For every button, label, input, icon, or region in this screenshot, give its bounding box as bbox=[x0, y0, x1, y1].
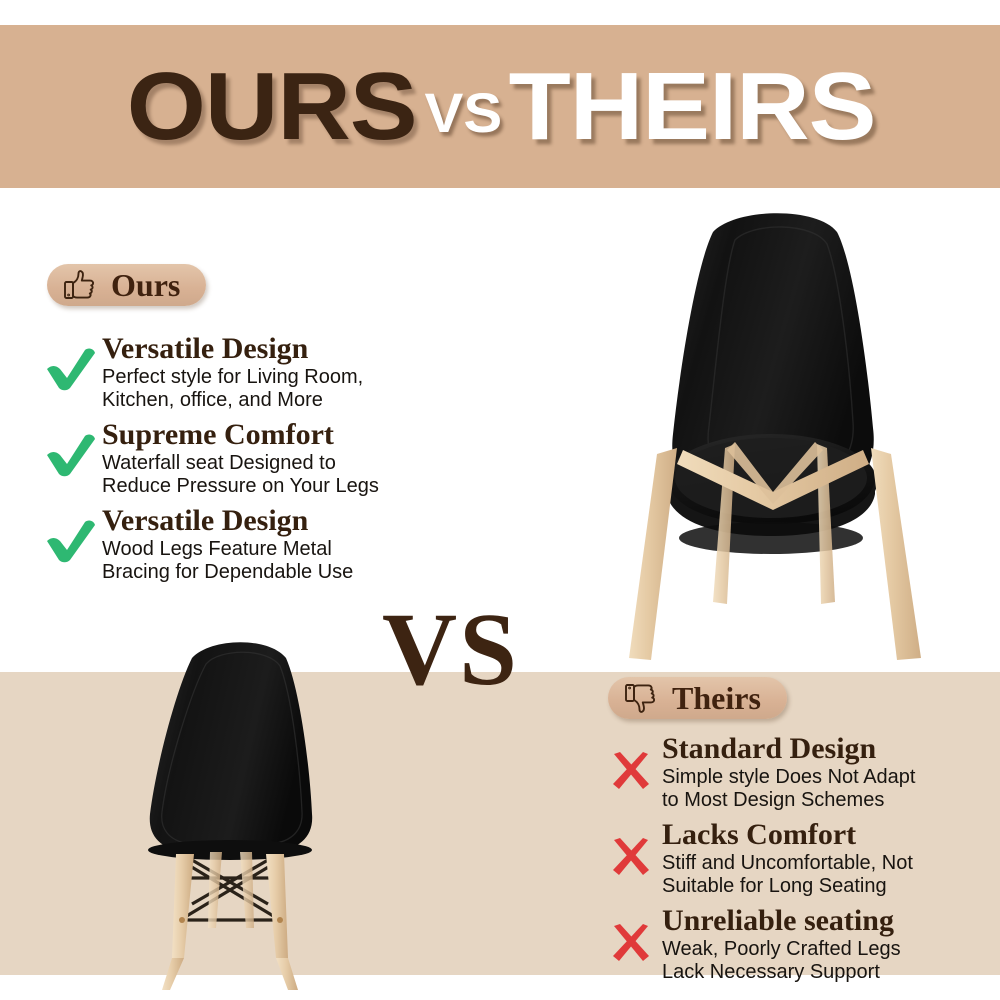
header-title: OURS VS THEIRS bbox=[0, 25, 1000, 188]
ours-feature-item: Versatile Design Wood Legs Feature Metal… bbox=[40, 505, 460, 585]
chair-leg-back-left bbox=[208, 852, 222, 928]
ours-feature-title: Supreme Comfort bbox=[102, 419, 460, 451]
ours-feature-item: Supreme Comfort Waterfall seat Designed … bbox=[40, 419, 460, 499]
ours-feature-list: Versatile Design Perfect style for Livin… bbox=[40, 333, 460, 591]
theirs-feature-title: Lacks Comfort bbox=[662, 819, 1000, 851]
cross-icon bbox=[600, 819, 662, 877]
ours-feature-desc: Perfect style for Living Room, Kitchen, … bbox=[102, 366, 460, 413]
chair-leg-front-left bbox=[172, 854, 194, 958]
cross-icon bbox=[600, 733, 662, 791]
theirs-feature-desc: Simple style Does Not Adapt to Most Desi… bbox=[662, 766, 1000, 813]
ours-badge: Ours bbox=[47, 264, 206, 306]
header-ours-text: OURS bbox=[127, 59, 417, 155]
theirs-feature-desc: Weak, Poorly Crafted Legs Lack Necessary… bbox=[662, 938, 1000, 985]
chair-wire-base bbox=[180, 860, 280, 920]
check-icon bbox=[40, 505, 102, 563]
ours-feature-title: Versatile Design bbox=[102, 505, 460, 537]
thumbs-up-icon bbox=[63, 269, 97, 301]
chair-leg-front-left bbox=[629, 448, 677, 660]
ours-chair-image bbox=[585, 192, 985, 662]
header-theirs-text: THEIRS bbox=[509, 59, 876, 155]
header-vs-text: VS bbox=[425, 85, 503, 141]
check-icon bbox=[40, 419, 102, 477]
theirs-feature-desc: Stiff and Uncomfortable, Not Suitable fo… bbox=[662, 852, 1000, 899]
ours-feature-desc: Waterfall seat Designed to Reduce Pressu… bbox=[102, 452, 460, 499]
check-icon bbox=[40, 333, 102, 391]
ours-feature-item: Versatile Design Perfect style for Livin… bbox=[40, 333, 460, 413]
theirs-feature-list: Standard Design Simple style Does Not Ad… bbox=[600, 733, 1000, 991]
comparison-infographic: OURS VS THEIRS bbox=[0, 0, 1000, 1000]
theirs-feature-item: Standard Design Simple style Does Not Ad… bbox=[600, 733, 1000, 813]
theirs-badge-label: Theirs bbox=[672, 682, 761, 714]
ours-badge-label: Ours bbox=[111, 269, 180, 301]
chair-shell bbox=[150, 642, 312, 852]
ours-feature-title: Versatile Design bbox=[102, 333, 460, 365]
cross-icon bbox=[600, 905, 662, 963]
theirs-feature-item: Lacks Comfort Stiff and Uncomfortable, N… bbox=[600, 819, 1000, 899]
theirs-badge: Theirs bbox=[608, 677, 787, 719]
chair-leg-front-right bbox=[871, 448, 921, 660]
theirs-chair-image bbox=[128, 628, 428, 990]
theirs-feature-item: Unreliable seating Weak, Poorly Crafted … bbox=[600, 905, 1000, 985]
ours-feature-desc: Wood Legs Feature Metal Bracing for Depe… bbox=[102, 538, 460, 585]
chair-leg-front-right bbox=[266, 854, 288, 958]
theirs-feature-title: Unreliable seating bbox=[662, 905, 1000, 937]
theirs-feature-title: Standard Design bbox=[662, 733, 1000, 765]
thumbs-down-icon bbox=[624, 682, 658, 714]
